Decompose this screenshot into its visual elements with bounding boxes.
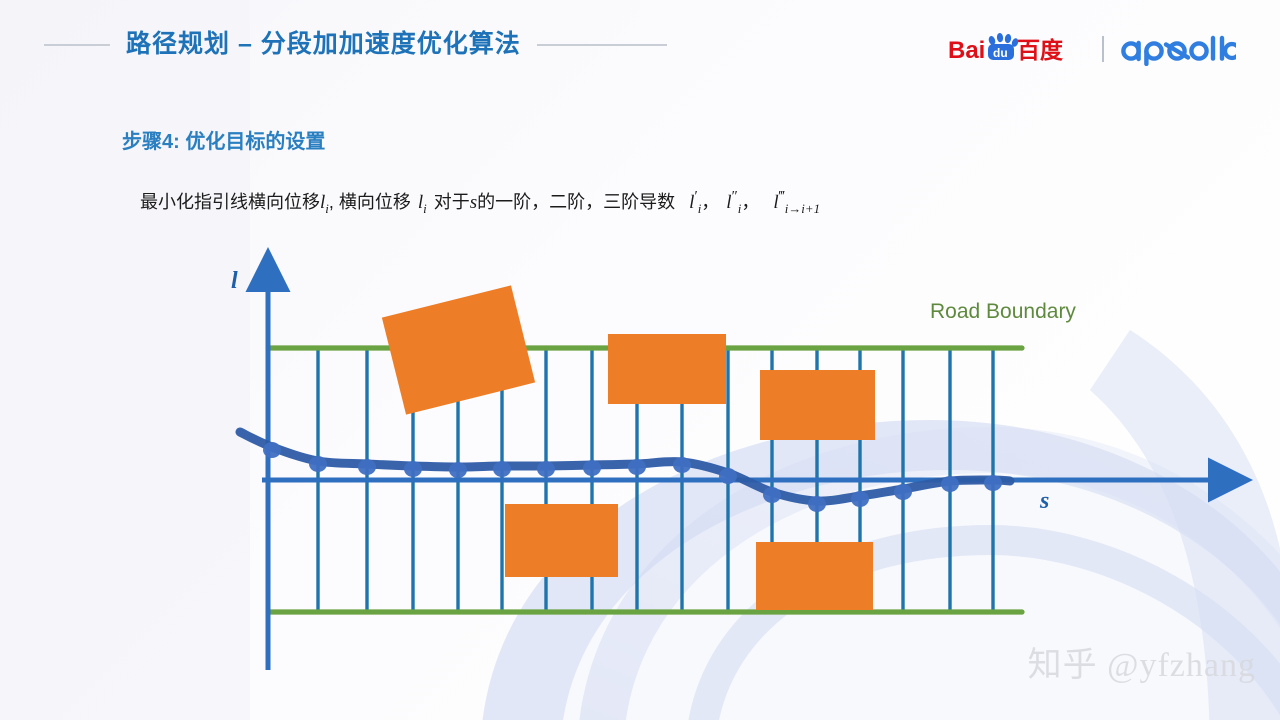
obstacle-1 (382, 285, 535, 414)
path-point (984, 475, 1002, 491)
path-point (583, 460, 601, 476)
path-point (851, 491, 869, 507)
path-planning-chart (0, 0, 1280, 720)
path-point (358, 459, 376, 475)
path-point (404, 461, 422, 477)
path-point (673, 457, 691, 473)
path-point (719, 468, 737, 484)
path-point (537, 461, 555, 477)
path-point (763, 487, 781, 503)
path-point (941, 476, 959, 492)
path-point (628, 459, 646, 475)
path-points-group (263, 442, 1002, 512)
road-boundary-label: Road Boundary (930, 300, 1076, 324)
path-point (493, 461, 511, 477)
path-point (449, 462, 467, 478)
obstacle-4 (505, 504, 618, 577)
obstacle-2 (608, 334, 726, 404)
path-point (309, 456, 327, 472)
obstacles-group (382, 285, 875, 610)
obstacle-3 (760, 370, 875, 440)
path-point (808, 496, 826, 512)
obstacle-5 (756, 542, 873, 610)
axis-label-s: s (1040, 488, 1049, 515)
watermark: 知乎 @yfzhang (1028, 637, 1256, 686)
path-point (894, 484, 912, 500)
axis-label-l: l (231, 268, 238, 295)
path-point (263, 442, 281, 458)
slide: 路径规划 – 分段加加速度优化算法 Bai du 百度 (0, 0, 1280, 720)
